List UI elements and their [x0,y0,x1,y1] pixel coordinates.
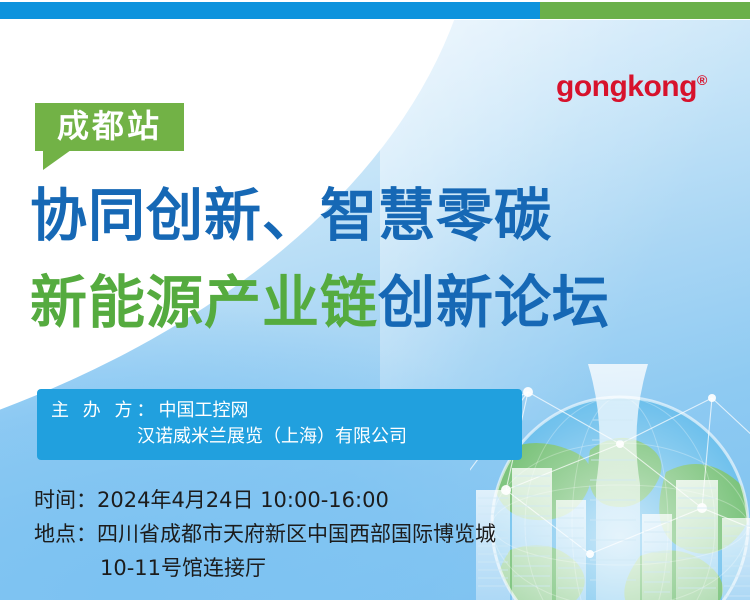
event-time-value: 2024年4月24日 10:00-16:00 [97,488,389,512]
top-bar-green-segment [540,2,750,19]
top-accent-bar [0,2,750,19]
registered-trademark-icon: ® [697,72,707,88]
event-place-row: 地点：四川省成都市天府新区中国西部国际博览城 [34,517,496,551]
event-poster: gongkong® 成都站 协同创新、智慧零碳 新能源产业链创新论坛 主 办 方… [0,0,750,600]
event-time-row: 时间：2024年4月24日 10:00-16:00 [34,483,496,517]
event-place-value: 四川省成都市天府新区中国西部国际博览城 [97,522,496,546]
event-place-label: 地点： [34,522,97,546]
organizer-label: 主 办 方： [51,400,158,421]
organizer-box: 主 办 方：中国工控网 汉诺威米兰展览（上海）有限公司 [37,389,522,460]
organizer-line-2: 汉诺威米兰展览（上海）有限公司 [51,424,508,450]
top-bar-blue-segment [0,2,540,19]
headline-line-2-green: 新能源产业链 [30,270,378,336]
city-tag: 成都站 [35,103,184,151]
organizer-name-1: 中国工控网 [158,400,248,421]
gongkong-logo: gongkong® [556,70,707,104]
event-details: 时间：2024年4月24日 10:00-16:00 地点：四川省成都市天府新区中… [34,483,496,585]
gongkong-logo-text: gongkong [556,70,697,103]
event-place-row-2: 10-11号馆连接厅 [34,551,496,585]
city-tag-tail-icon [43,150,71,170]
organizer-line-1: 主 办 方：中国工控网 [51,398,508,424]
headline-line-1: 协同创新、智慧零碳 [30,188,552,245]
city-tag-label: 成都站 [35,103,184,151]
headline-line-2: 新能源产业链创新论坛 [30,275,610,332]
event-time-label: 时间： [34,488,97,512]
headline-line-2-blue: 创新论坛 [378,270,610,336]
